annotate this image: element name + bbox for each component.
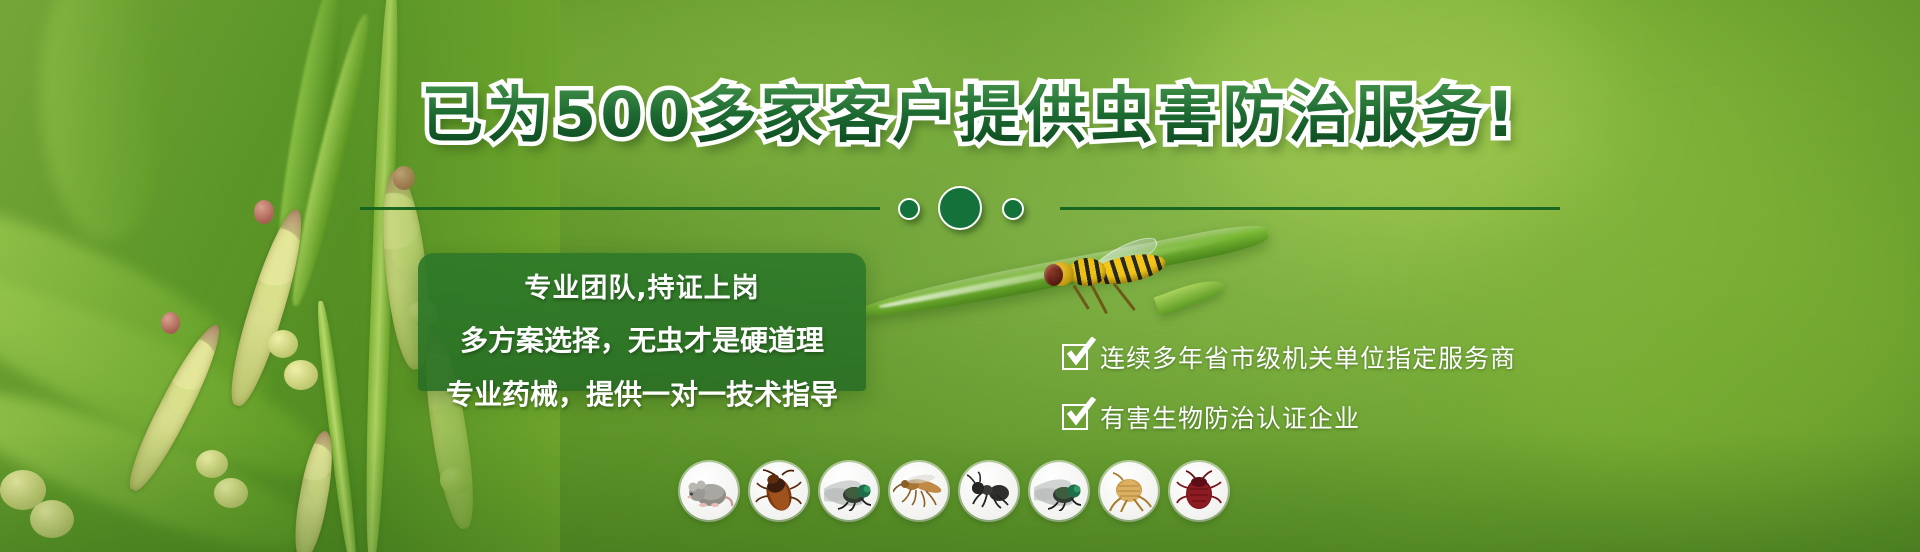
cockroach-icon[interactable]: 蟑螂	[750, 462, 808, 520]
slogan-line-2: 多方案选择，无虫才是硬道理	[460, 319, 824, 359]
divider-dot-small-right	[1002, 198, 1024, 220]
credential-label: 连续多年省市级机关单位指定服务商	[1100, 339, 1516, 375]
divider-dot-large-center	[938, 186, 982, 230]
housefly-icon[interactable]: 苍蝇	[1030, 462, 1088, 520]
credential-item: 有害生物防治认证企业	[1062, 396, 1516, 438]
divider-dot-small-left	[898, 198, 920, 220]
divider-rule-right	[1060, 207, 1560, 210]
slogan-text-block: 专业团队,持证上岗 多方案选择，无虫才是硬道理 专业药械，提供一对一技术指导	[418, 253, 866, 413]
divider-rule-left	[360, 207, 880, 210]
slogan-line-3: 专业药械，提供一对一技术指导	[446, 373, 838, 413]
fly-icon[interactable]: 蝇	[820, 462, 878, 520]
credential-list: 连续多年省市级机关单位指定服务商 有害生物防治认证企业	[1062, 336, 1516, 456]
credential-label: 有害生物防治认证企业	[1100, 399, 1360, 435]
pest-icon-row: 鼠 蟑螂 蝇	[680, 462, 1228, 520]
pest-control-hero-banner: 已为500多家客户提供虫害防治服务! 已为500多家客户提供虫害防治服务! 专业…	[0, 0, 1920, 552]
ant-icon[interactable]: 蚁	[960, 462, 1018, 520]
bedbug-icon[interactable]: 臭虫	[1170, 462, 1228, 520]
divider	[0, 178, 1920, 238]
slogan-line-1: 专业团队,持证上岗	[524, 266, 759, 305]
rodent-icon[interactable]: 鼠	[680, 462, 738, 520]
checkbox-check-icon	[1062, 404, 1088, 430]
page-title: 已为500多家客户提供虫害防治服务!	[340, 84, 1600, 146]
mosquito-icon[interactable]: 蚊	[890, 462, 948, 520]
credential-item: 连续多年省市级机关单位指定服务商	[1062, 336, 1516, 378]
flea-icon[interactable]: 跳蚤	[1100, 462, 1158, 520]
checkbox-check-icon	[1062, 344, 1088, 370]
